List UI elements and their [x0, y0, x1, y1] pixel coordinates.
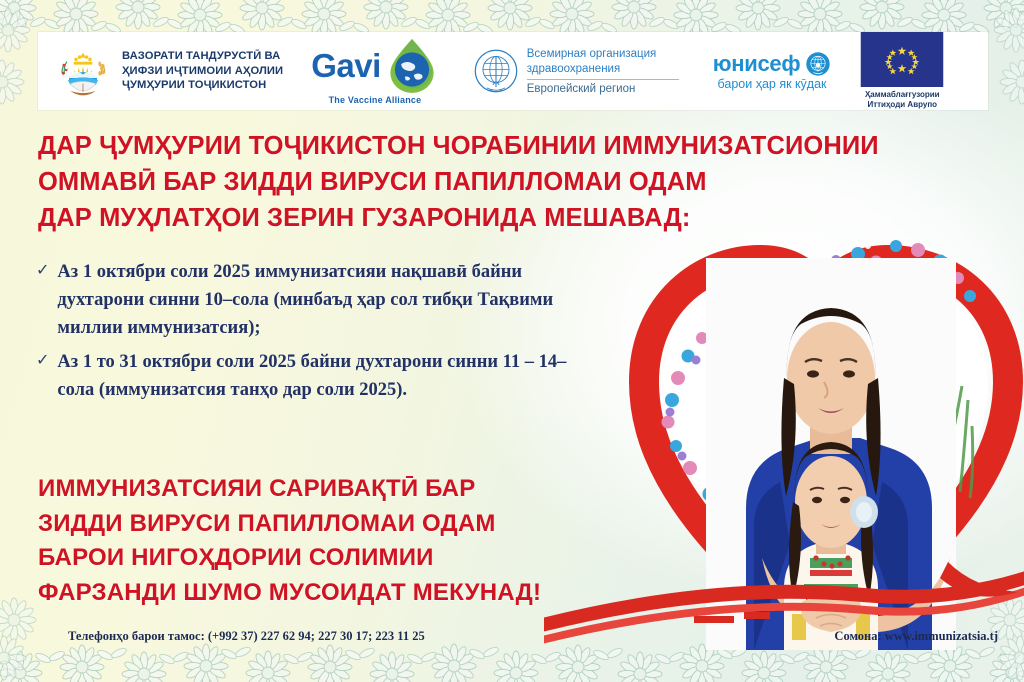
poster-headline: ДАР ҶУМҲУРИИ ТОҶИКИСТОН ЧОРАБИНИИ ИММУНИ…	[38, 128, 958, 237]
eu-funding-caption: Ҳаммаблағгузории Иттиҳоди Аврупо	[865, 90, 940, 110]
who-name: Всемирная организация здравоохранения	[527, 47, 679, 75]
ministry-of-health-logo: ВАЗОРАТИ ТАНДУРУСТӢ ВА ҲИФЗИ ИҶТИМОИИ АҲ…	[38, 32, 283, 110]
website-url: Сомона: www.immunizatsia.tj	[834, 629, 998, 644]
list-item-text: Аз 1 октябри соли 2025 иммунизатсияи нақ…	[57, 258, 576, 342]
cta-line-1: ИММУНИЗАТСИЯИ САРИВАҚТӢ БАР	[38, 472, 598, 507]
who-logo: Всемирная организация здравоохранения Ев…	[473, 32, 679, 110]
ministry-name: ВАЗОРАТИ ТАНДУРУСТӢ ВА ҲИФЗИ ИҶТИМОИИ АҲ…	[122, 49, 283, 93]
immunization-campaign-poster: ВАЗОРАТИ ТАНДУРУСТӢ ВА ҲИФЗИ ИҶТИМОИИ АҲ…	[0, 0, 1024, 682]
gavi-wordmark: Gavi	[311, 49, 381, 82]
european-union-logo: Ҳаммаблағгузории Иттиҳоди Аврупо	[859, 32, 945, 110]
gavi-droplet-globe-icon	[385, 37, 439, 93]
cta-line-4: ФАРЗАНДИ ШУМО МУСОИДАТ МЕКУНАД!	[38, 576, 598, 611]
call-to-action-message: ИММУНИЗАТСИЯИ САРИВАҚТӢ БАР ЗИДДИ ВИРУСИ…	[38, 472, 598, 610]
unicef-tagline: барои ҳар як кӯдак	[718, 78, 827, 92]
mother-and-daughter-portrait	[706, 258, 956, 650]
cta-line-2: ЗИДДИ ВИРУСИ ПАПИЛЛОМАИ ОДАМ	[38, 507, 598, 542]
check-icon: ✓	[36, 348, 49, 373]
check-icon: ✓	[36, 258, 49, 283]
contact-phone-numbers: Телефонҳо барои тамос: (+992 37) 227 62 …	[68, 629, 425, 644]
list-item-text: Аз 1 то 31 октябри соли 2025 байни духта…	[57, 348, 576, 404]
tajikistan-state-emblem-icon	[54, 42, 112, 100]
who-region: Европейский регион	[527, 83, 679, 95]
gavi-tagline: The Vaccine Alliance	[329, 95, 422, 105]
gavi-logo: Gavi The Vaccine Alliance	[311, 32, 439, 110]
partner-logo-band: ВАЗОРАТИ ТАНДУРУСТӢ ВА ҲИФЗИ ИҶТИМОИИ АҲ…	[38, 32, 988, 110]
headline-line-2: ОММАВӢ БАР ЗИДДИ ВИРУСИ ПАПИЛЛОМАИ ОДАМ	[38, 164, 958, 200]
european-union-flag-icon	[859, 32, 945, 87]
schedule-list: ✓ Аз 1 октябри соли 2025 иммунизатсияи н…	[36, 258, 576, 411]
list-item: ✓ Аз 1 то 31 октябри соли 2025 байни дух…	[36, 348, 576, 404]
who-emblem-icon	[473, 48, 519, 94]
who-divider	[527, 79, 679, 80]
headline-line-1: ДАР ҶУМҲУРИИ ТОҶИКИСТОН ЧОРАБИНИИ ИММУНИ…	[38, 128, 958, 164]
unicef-emblem-icon	[805, 51, 831, 77]
unicef-wordmark: юнисеф	[713, 53, 801, 75]
headline-line-3: ДАР МУҲЛАТҲОИ ЗЕРИН ГУЗАРОНИДА МЕШАВАД:	[38, 200, 958, 236]
list-item: ✓ Аз 1 октябри соли 2025 иммунизатсияи н…	[36, 258, 576, 342]
unicef-logo: юнисеф барои ҳар як кӯдак	[713, 32, 832, 110]
cta-line-3: БАРОИ НИГОҲДОРИИ СОЛИМИИ	[38, 541, 598, 576]
